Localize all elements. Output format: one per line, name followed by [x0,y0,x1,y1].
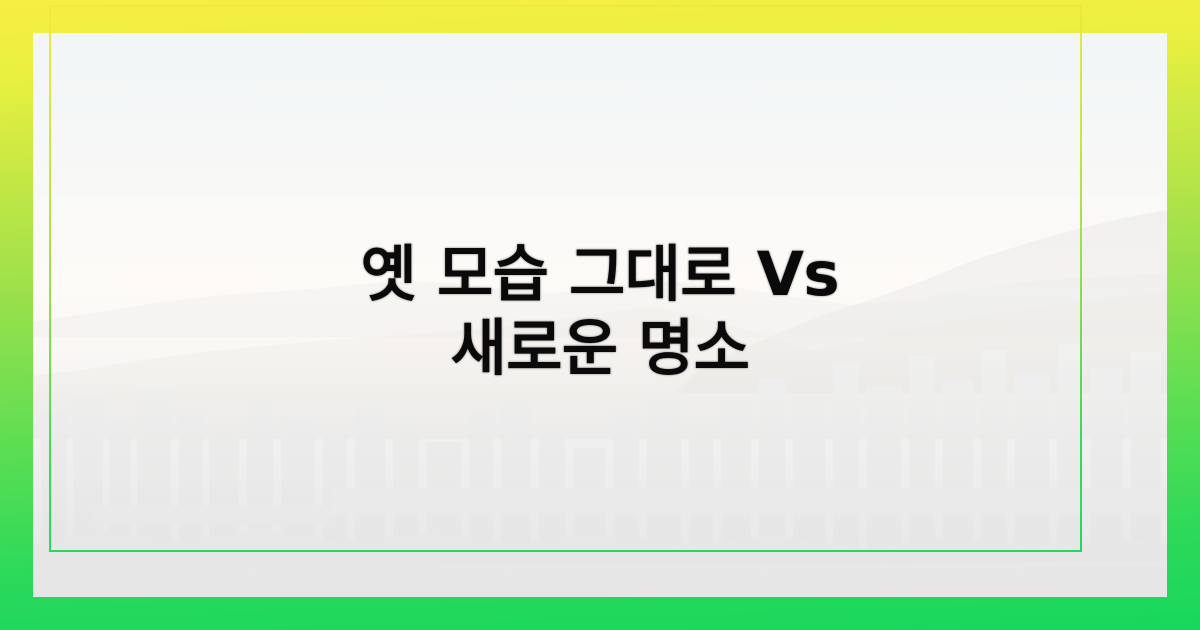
poster-canvas: 옛 모습 그대로 Vs 새로운 명소 [0,0,1200,630]
title-block: 옛 모습 그대로 Vs 새로운 명소 [0,238,1200,386]
title-line-1: 옛 모습 그대로 Vs [0,238,1200,312]
title-line-2: 새로운 명소 [0,312,1200,386]
